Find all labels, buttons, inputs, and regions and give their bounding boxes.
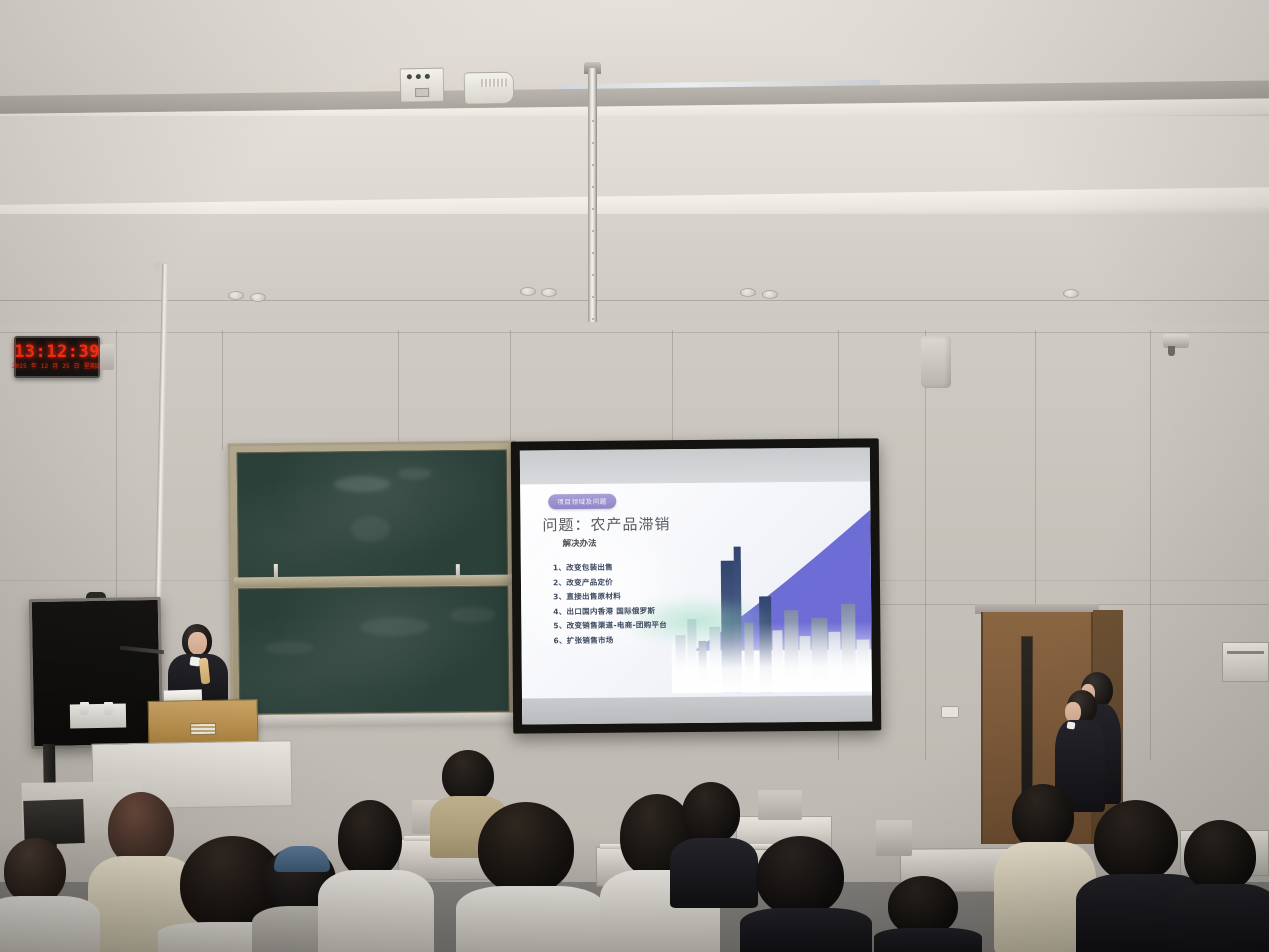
audience-hair — [4, 838, 66, 904]
audience-torso — [318, 870, 434, 952]
chalk-smudge — [350, 516, 390, 542]
slide-title: 问题：农产品滞销 — [542, 513, 670, 535]
audience-cap — [274, 846, 330, 872]
audience-torso — [740, 908, 872, 952]
audience-hair — [338, 800, 402, 878]
audience-hair — [756, 836, 844, 916]
wall-panel-seam-3 — [398, 330, 399, 450]
projection-screen[interactable]: 项目领域及问题 问题：农产品滞销 解决办法 1、改变包装出售 2、改变产品定价 … — [511, 438, 882, 733]
light-switch[interactable] — [941, 706, 959, 718]
recessed-speaker-right-2 — [762, 290, 778, 299]
ceiling-sensor-plate — [415, 88, 429, 97]
list-item: 4、出口国内香港 国际俄罗斯 — [553, 605, 667, 617]
green-chalkboard — [228, 440, 519, 721]
slide-subtitle: 解决办法 — [563, 537, 597, 549]
list-item: 6、扩张销售市场 — [553, 634, 667, 646]
wooden-podium — [148, 699, 259, 747]
slide-solution-list: 1、改变包装出售 2、改变产品定价 3、直接出售原材料 4、出口国内香港 国际俄… — [553, 561, 667, 645]
presentation-slide: 项目领域及问题 问题：农产品滞销 解决办法 1、改变包装出售 2、改变产品定价 … — [520, 481, 872, 716]
wall-panel-seam-9 — [1150, 330, 1151, 760]
chalk-smudge — [264, 641, 314, 656]
audience-hair — [1094, 800, 1178, 882]
wall-panel-seam-5 — [672, 330, 673, 442]
ceiling-sensor-unit — [400, 68, 445, 103]
chalkboard-panel-bottom — [238, 586, 509, 715]
equipment-box — [70, 704, 126, 729]
ceiling-lower-slab — [0, 214, 1269, 332]
chalk-smudge — [398, 467, 432, 479]
chalk-smudge — [359, 617, 429, 636]
wall-speaker-right — [921, 336, 951, 388]
audience-hair — [108, 792, 174, 866]
audience-member — [880, 876, 976, 952]
clock-date: 2025 年 12 月 25 日 星期四 — [12, 364, 103, 370]
podium-emblem — [190, 723, 216, 735]
audience-hair — [682, 782, 740, 844]
desk-cup — [104, 702, 113, 715]
audience-member — [1174, 820, 1269, 952]
list-item: 3、直接出售原材料 — [553, 590, 667, 602]
classroom-scene: 13:12:39 2025 年 12 月 25 日 星期四 — [0, 0, 1269, 952]
digital-wall-clock: 13:12:39 2025 年 12 月 25 日 星期四 — [14, 336, 100, 378]
recessed-speaker-center-2 — [541, 288, 557, 297]
chalkboard-panel-top — [237, 450, 508, 579]
audience-member — [332, 800, 416, 952]
chalkboard-clip-right — [456, 564, 460, 578]
wall-panel-seam-2 — [222, 330, 223, 450]
audience-member — [1006, 784, 1084, 952]
audience-torso — [874, 928, 982, 952]
audience-hair — [1184, 820, 1256, 892]
wall-panel-seam-4 — [510, 330, 511, 445]
recessed-speaker-center — [520, 287, 536, 296]
ceiling-seam-line — [0, 300, 1269, 301]
audience-member — [750, 836, 860, 952]
screen-letterbox-top — [520, 447, 870, 484]
screen-letterbox-bottom — [522, 695, 872, 724]
audience-member — [0, 838, 90, 952]
audience-hair — [1012, 784, 1074, 850]
audience-hair — [888, 876, 958, 936]
list-item: 2、改变产品定价 — [553, 576, 667, 588]
clock-time: 13:12:39 — [14, 344, 100, 361]
clock-wall-mount — [100, 344, 114, 370]
ceiling-sensor-ports — [407, 74, 430, 79]
wall-panel-seam-7 — [925, 330, 926, 760]
chair-back — [758, 790, 802, 820]
cabinet-slot — [1227, 651, 1264, 654]
wall-camera — [1163, 334, 1189, 348]
audience-hair — [478, 802, 574, 894]
audience-torso — [670, 838, 758, 908]
recessed-speaker-right — [740, 288, 756, 297]
presenter-face — [188, 632, 207, 655]
ceiling-speaker-vent — [481, 79, 507, 87]
recessed-speaker-far-right — [1063, 289, 1079, 298]
audience-member — [676, 782, 752, 902]
chalkboard-clip-left — [274, 564, 278, 578]
side-cabinet — [1222, 642, 1269, 682]
audience-torso — [0, 896, 100, 952]
slide-section-badge: 项目领域及问题 — [548, 494, 616, 510]
desk-cup — [80, 702, 89, 715]
audience-torso — [456, 886, 606, 952]
wall-top-seam — [0, 332, 1269, 333]
wall-panel-seam-8 — [1035, 330, 1036, 610]
recessed-speaker-left — [228, 291, 244, 300]
standing-person-front-collar — [1067, 721, 1076, 729]
screen-surface: 项目领域及问题 问题：农产品滞销 解决办法 1、改变包装出售 2、改变产品定价 … — [520, 447, 872, 724]
audience-hair — [442, 750, 494, 802]
audience-member — [470, 802, 590, 952]
list-item: 1、改变包装出售 — [553, 561, 667, 573]
chair-back — [876, 820, 912, 856]
ceiling-speaker-unit — [464, 72, 515, 105]
audience-torso — [1168, 884, 1269, 952]
recessed-speaker-left-2 — [250, 293, 266, 302]
list-item: 5、改变销售渠道-电商-团购平台 — [553, 619, 667, 631]
door-glass-panel — [1021, 636, 1033, 806]
chalk-smudge — [334, 476, 390, 493]
chalk-smudge — [449, 607, 495, 623]
